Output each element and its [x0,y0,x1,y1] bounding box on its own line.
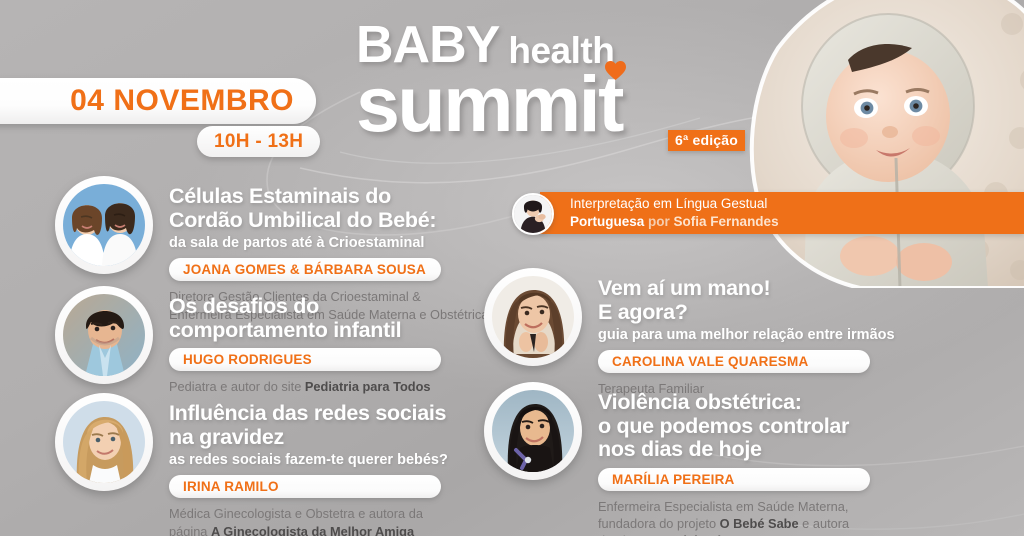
speaker-title-line1: Vem aí um mano! [598,277,895,301]
baby-photo-blob [720,0,1024,288]
time-badge-label: 10H - 13H [214,131,303,153]
avatar [484,382,582,480]
speaker-role-line1: Médica Ginecologista e Obstetra e autora… [169,505,448,522]
speaker-card-carolina-vale-quaresma: Vem aí um mano! E agora? guia para uma m… [484,268,895,398]
poster-canvas: 04 NOVEMBRO 10H - 13H BABY health summit… [0,0,1024,536]
edition-badge: 6ª edição [668,130,745,151]
speaker-name: MARÍLIA PEREIRA [612,472,735,487]
speaker-role: Médica Ginecologista e Obstetra e autora… [169,505,448,536]
speaker-name-pill: IRINA RAMILO [169,475,441,498]
speaker-name: HUGO RODRIGUES [183,352,312,367]
date-badge: 04 NOVEMBRO [0,78,316,124]
speaker-title-line1: Os desafios do [169,295,441,319]
sign-language-line1: Interpretação em Língua Gestual [570,195,779,213]
speaker-role-line1: Enfermeira Especialista em Saúde Materna… [598,498,870,515]
speaker-title-line1: Células Estaminais do [169,185,488,209]
speaker-title-line2: Cordão Umbilical do Bebé: [169,209,488,233]
avatar [484,268,582,366]
avatar-sofia-fernandes [512,193,554,235]
sign-language-banner: Interpretação em Língua Gestual Portugue… [540,192,1024,234]
speaker-title-line1: Violência obstétrica: [598,391,870,415]
speaker-name: CAROLINA VALE QUARESMA [612,354,808,369]
speaker-name-pill: MARÍLIA PEREIRA [598,468,870,491]
speaker-card-hugo-rodrigues: Os desafios do comportamento infantil HU… [55,286,441,395]
speaker-role: Enfermeira Especialista em Saúde Materna… [598,498,870,536]
speaker-subtitle: as redes sociais fazem-te querer bebés? [169,451,448,469]
sign-language-interpreter: Sofia Fernandes [674,214,779,229]
heart-icon [604,60,627,81]
speaker-title-line2: E agora? [598,301,895,325]
speaker-name-pill: JOANA GOMES & BÁRBARA SOUSA [169,258,441,281]
speaker-title-line2: na gravidez [169,426,448,450]
speaker-subtitle: da sala de partos até à Crioestaminal [169,234,488,252]
speaker-title-line1: Influência das redes sociais [169,402,448,426]
speaker-role-line2-prefix: página [169,524,211,536]
speaker-card-irina-ramilo: Influência das redes sociais na gravidez… [55,393,448,536]
date-badge-label: 04 NOVEMBRO [70,84,294,118]
event-logo: BABY health summit 6ª edição [356,22,756,158]
speaker-role-line2-highlight: O Bebé Sabe [720,516,799,531]
speaker-role-line2-highlight: A Ginecologista da Melhor Amiga [211,524,414,536]
speaker-title-line2: o que podemos controlar [598,415,870,439]
speaker-role-line2-suffix: e autora [799,516,850,531]
speaker-name: IRINA RAMILO [183,479,279,494]
avatar [55,176,153,274]
avatar [55,286,153,384]
speaker-role-line2-prefix: fundadora do projeto [598,516,720,531]
time-badge: 10H - 13H [197,126,320,157]
speaker-name: JOANA GOMES & BÁRBARA SOUSA [183,262,426,277]
speaker-card-marilia-pereira: Violência obstétrica: o que podemos cont… [484,382,870,536]
speaker-title-line2: comportamento infantil [169,319,441,343]
sign-language-line2-bold: Portuguesa [570,214,644,229]
avatar [55,393,153,491]
sign-language-by: por [648,214,670,229]
sign-language-text: Interpretação em Língua Gestual Portugue… [570,195,779,231]
speaker-title-line3: nos dias de hoje [598,438,870,462]
speaker-subtitle: guia para uma melhor relação entre irmão… [598,326,895,344]
speaker-name-pill: HUGO RODRIGUES [169,348,441,371]
speaker-name-pill: CAROLINA VALE QUARESMA [598,350,870,373]
